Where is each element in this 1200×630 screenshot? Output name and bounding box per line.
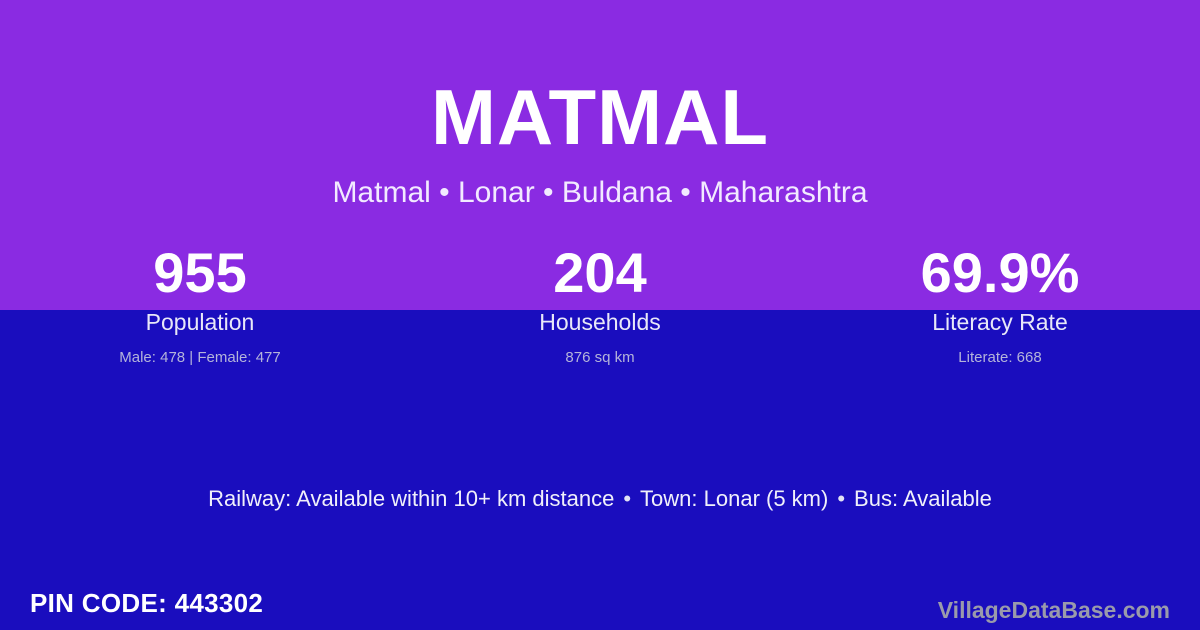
pin-code: PIN CODE: 443302 [30, 590, 263, 616]
amenity-bus: Bus: Available [854, 486, 992, 511]
card-header: MATMAL Matmal • Lonar • Buldana • Mahara… [0, 0, 1200, 230]
amenity-separator-1: • [614, 486, 640, 511]
amenity-railway: Railway: Available within 10+ km distanc… [208, 486, 614, 511]
stat-sub-population: Male: 478 | Female: 477 [119, 350, 280, 365]
stat-value-literacy-rate: 69.9% [921, 244, 1080, 303]
village-info-card: MATMAL Matmal • Lonar • Buldana • Mahara… [0, 0, 1200, 630]
site-brand: VillageDataBase.com [938, 599, 1170, 622]
stats-row: 955 Population Male: 478 | Female: 477 2… [0, 244, 1200, 365]
amenity-separator-2: • [828, 486, 854, 511]
stat-label-households: Households [539, 311, 660, 334]
breadcrumb: Matmal • Lonar • Buldana • Maharashtra [332, 178, 867, 208]
stat-label-literacy-rate: Literacy Rate [932, 311, 1068, 334]
card-footer: PIN CODE: 443302 VillageDataBase.com [0, 575, 1200, 630]
page-title: MATMAL [431, 78, 769, 156]
stat-sub-households: 876 sq km [565, 350, 634, 365]
amenity-town: Town: Lonar (5 km) [640, 486, 828, 511]
stat-literacy-rate: 69.9% Literacy Rate Literate: 668 [800, 244, 1200, 365]
stat-value-households: 204 [553, 244, 646, 303]
stat-label-population: Population [146, 311, 255, 334]
stat-sub-literacy-rate: Literate: 668 [958, 350, 1041, 365]
stat-households: 204 Households 876 sq km [400, 244, 800, 365]
amenities-line: Railway: Available within 10+ km distanc… [0, 485, 1200, 514]
stat-population: 955 Population Male: 478 | Female: 477 [0, 244, 400, 365]
stat-value-population: 955 [153, 244, 246, 303]
